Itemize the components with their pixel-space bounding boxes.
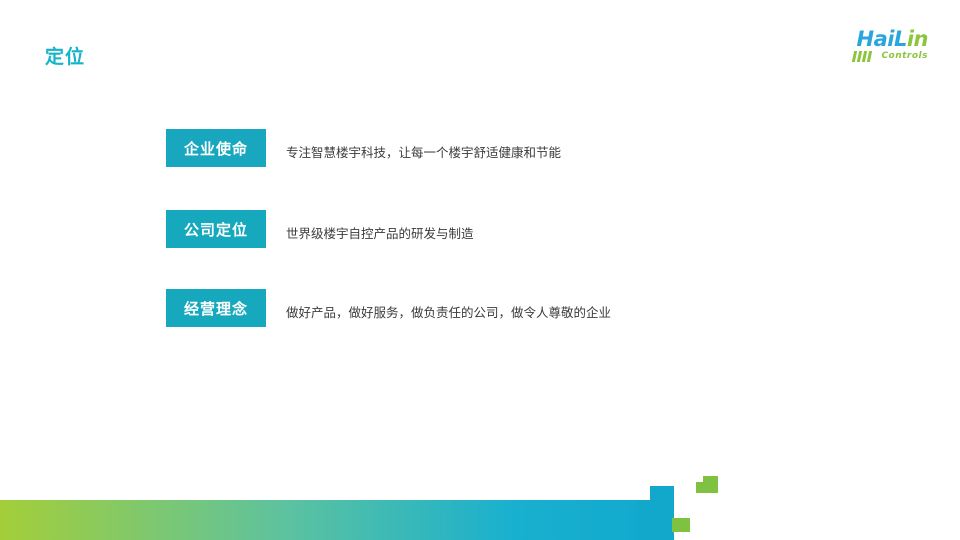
row-tag: 企业使命 bbox=[166, 129, 266, 167]
row-tag: 公司定位 bbox=[166, 210, 266, 248]
list-item: 企业使命 专注智慧楼宇科技，让每一个楼宇舒适健康和节能 bbox=[166, 129, 561, 167]
list-item: 经营理念 做好产品，做好服务，做负责任的公司，做令人尊敬的企业 bbox=[166, 289, 611, 327]
bottom-accent-notch bbox=[636, 486, 650, 500]
page-title: 定位 bbox=[45, 42, 85, 69]
logo-wordmark-part2: in bbox=[907, 27, 928, 51]
row-text: 做好产品，做好服务，做负责任的公司，做令人尊敬的企业 bbox=[286, 304, 611, 322]
logo-subtitle: Controls bbox=[881, 51, 928, 61]
logo-wordmark-part1: HaiL bbox=[857, 27, 907, 51]
green-square-upper-notch bbox=[696, 476, 703, 482]
row-text: 世界级楼宇自控产品的研发与制造 bbox=[286, 225, 474, 243]
logo-wordmark: HaiLin bbox=[857, 28, 928, 50]
logo-bars-icon bbox=[853, 51, 871, 62]
bottom-gradient-band bbox=[0, 500, 640, 540]
slide: 定位 HaiLin Controls 企业使命 专注智慧楼宇科技，让每一个楼宇舒… bbox=[0, 0, 960, 540]
brand-logo: HaiLin Controls bbox=[818, 28, 928, 68]
green-square-lower bbox=[672, 518, 690, 532]
list-item: 公司定位 世界级楼宇自控产品的研发与制造 bbox=[166, 210, 474, 248]
row-tag: 经营理念 bbox=[166, 289, 266, 327]
row-text: 专注智慧楼宇科技，让每一个楼宇舒适健康和节能 bbox=[286, 144, 561, 162]
